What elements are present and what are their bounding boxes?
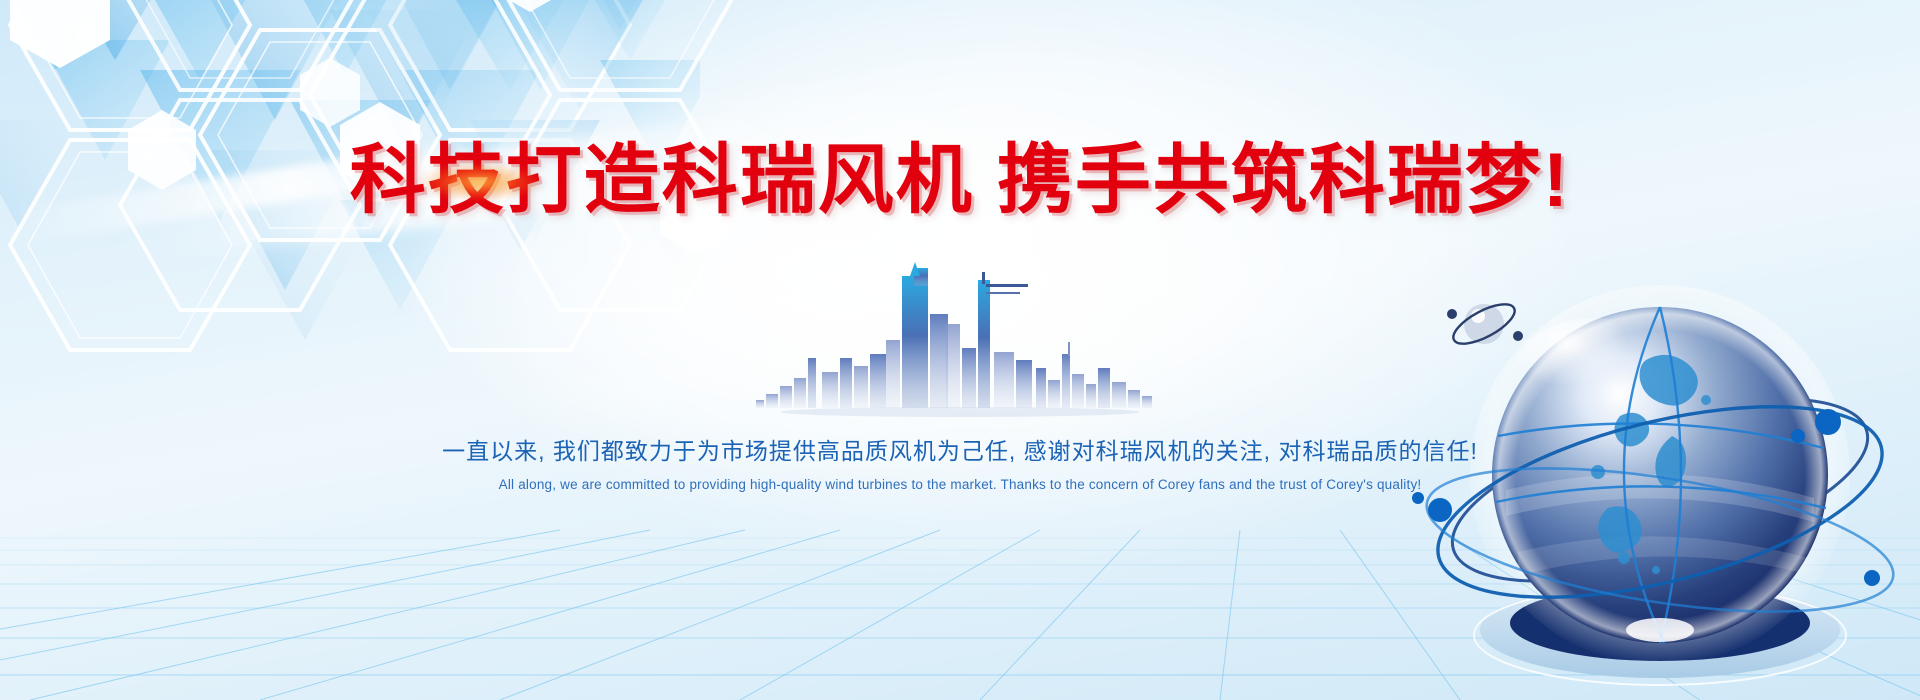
subtitle-english: All along, we are committed to providing… (0, 477, 1920, 492)
subtitle-chinese: 一直以来, 我们都致力于为市场提供高品质风机为己任, 感谢对科瑞风机的关注, 对… (0, 432, 1920, 466)
city-skyline-icon (750, 262, 1170, 422)
headline-spark-icon (420, 164, 540, 200)
page-title: 科技打造科瑞风机 携手共筑科瑞梦! (0, 118, 1920, 228)
globe-icon (1410, 240, 1910, 700)
promotional-banner: 科技打造科瑞风机 携手共筑科瑞梦! 一直以来, 我们都致力于为市场提供高品质风机… (0, 0, 1920, 700)
hexagon-pattern-right (0, 0, 820, 460)
